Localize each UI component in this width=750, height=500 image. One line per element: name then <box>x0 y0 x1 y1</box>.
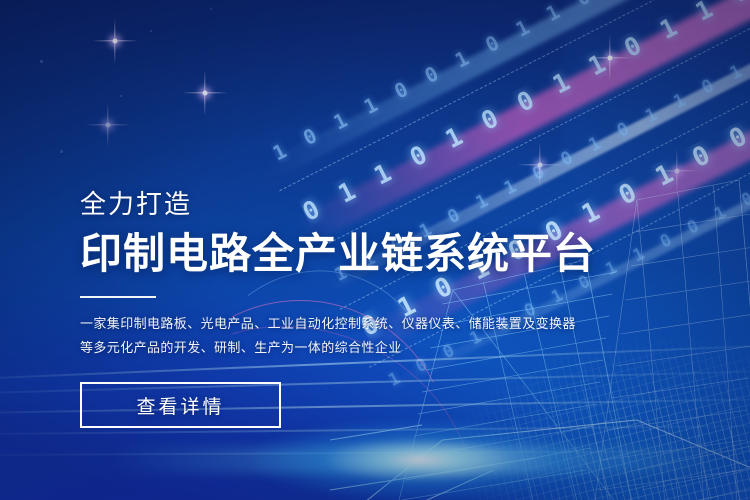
hero-divider <box>80 296 156 298</box>
view-details-button[interactable]: 查看详情 <box>80 382 281 428</box>
hero-eyebrow: 全力打造 <box>80 190 640 219</box>
hero-description-line-1: 一家集印制电路板、光电产品、工业自动化控制系统、仪器仪表、储能装置及变换器 <box>80 312 640 336</box>
hero-description: 一家集印制电路板、光电产品、工业自动化控制系统、仪器仪表、储能装置及变换器 等多… <box>80 312 640 360</box>
hero-content: 全力打造 印制电路全产业链系统平台 一家集印制电路板、光电产品、工业自动化控制系… <box>80 190 640 428</box>
hero-headline: 印制电路全产业链系统平台 <box>80 231 640 276</box>
hero-banner: 1 0 1 1 0 0 1 0 1 1 0 1 0 0 1 1 0 1 0 1 … <box>0 0 750 500</box>
hero-description-line-2: 等多元化产品的开发、研制、生产为一体的综合性企业 <box>80 336 640 360</box>
